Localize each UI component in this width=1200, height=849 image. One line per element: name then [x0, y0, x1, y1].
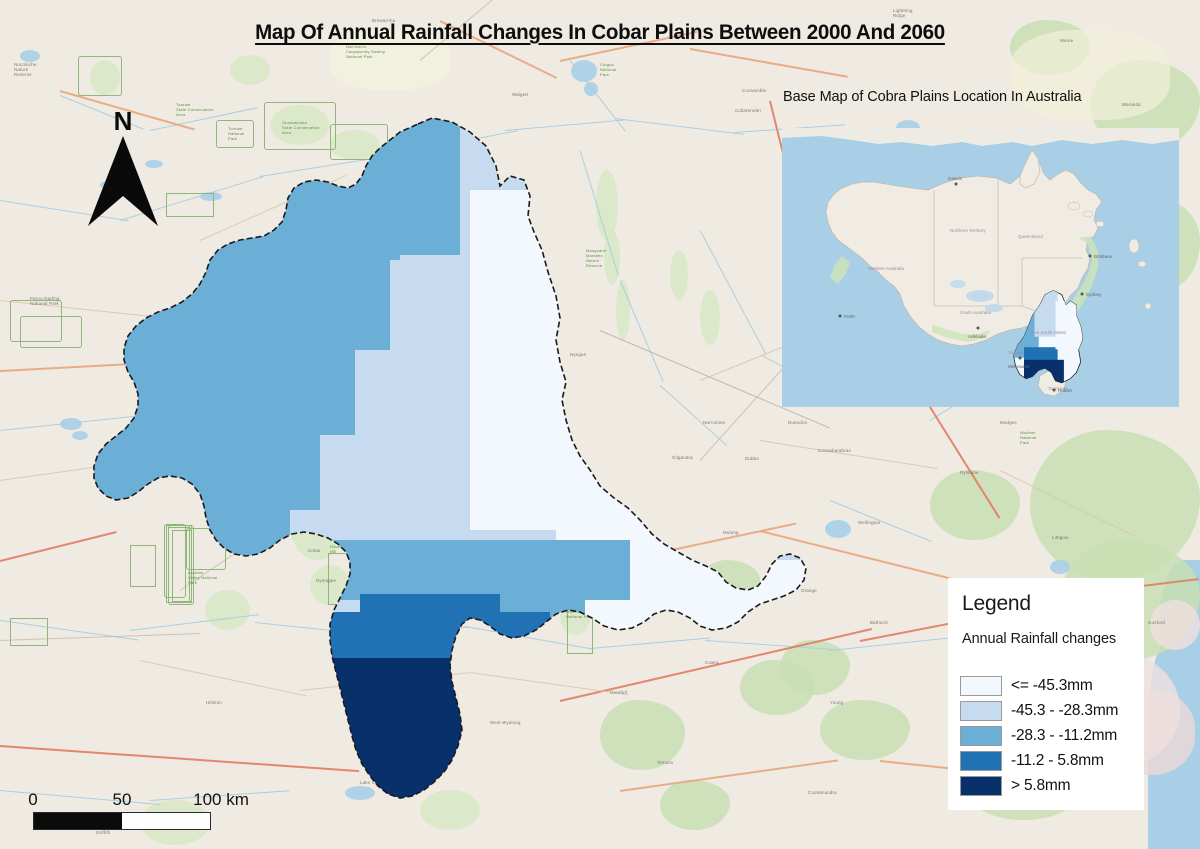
- map-figure: Brewarrina LightningRidge Walgett Collar…: [0, 0, 1200, 849]
- scale-tick-100: 100 km: [193, 790, 249, 810]
- legend-subtitle: Annual Rainfall changes: [962, 631, 1116, 647]
- class-0-fill: [684, 560, 814, 670]
- scale-bar-ticks: 0 50 100 km: [33, 790, 211, 812]
- north-arrow-label: N: [84, 108, 162, 134]
- inset-map[interactable]: Western Australia Northern Territory Que…: [782, 128, 1179, 407]
- north-arrow: N: [84, 108, 162, 228]
- svg-text:New South Wales: New South Wales: [1030, 330, 1067, 335]
- svg-text:Melbourne: Melbourne: [1008, 364, 1030, 369]
- svg-text:Northern Territory: Northern Territory: [950, 228, 986, 233]
- legend[interactable]: Legend Annual Rainfall changes <= -45.3m…: [948, 578, 1144, 810]
- legend-label: -45.3 - -28.3mm: [1011, 702, 1118, 720]
- legend-label: <= -45.3mm: [1011, 677, 1093, 695]
- svg-text:South Australia: South Australia: [960, 310, 991, 315]
- svg-text:Victoria: Victoria: [1008, 350, 1024, 355]
- australia-outline: Western Australia Northern Territory Que…: [782, 128, 1179, 407]
- legend-class-list: <= -45.3mm -45.3 - -28.3mm -28.3 - -11.2…: [960, 673, 1118, 798]
- legend-swatch: [960, 701, 1002, 721]
- scale-bar-half-filled: [34, 813, 122, 829]
- legend-swatch: [960, 751, 1002, 771]
- class-0-fill: [470, 190, 560, 530]
- svg-text:Adelaide: Adelaide: [968, 334, 986, 339]
- north-arrow-icon: [84, 136, 162, 228]
- class-4-fill: [330, 658, 548, 688]
- svg-text:Darwin: Darwin: [948, 176, 963, 181]
- class-4-fill: [355, 780, 555, 825]
- legend-label: > 5.8mm: [1011, 777, 1070, 795]
- svg-text:Hobart: Hobart: [1058, 388, 1073, 393]
- svg-text:Perth: Perth: [844, 314, 855, 319]
- svg-text:Western Australia: Western Australia: [868, 266, 904, 271]
- map-title: Map Of Annual Rainfall Changes In Cobar …: [27, 20, 1173, 45]
- legend-swatch: [960, 676, 1002, 696]
- legend-row[interactable]: -45.3 - -28.3mm: [960, 698, 1118, 723]
- legend-title: Legend: [962, 592, 1031, 616]
- legend-row[interactable]: -11.2 - 5.8mm: [960, 748, 1118, 773]
- scale-bar-half-empty: [122, 813, 210, 829]
- scale-bar-graphic: [33, 812, 211, 830]
- legend-row[interactable]: > 5.8mm: [960, 773, 1118, 798]
- class-3-fill: [460, 636, 540, 692]
- class-3-fill: [330, 636, 560, 660]
- inset-map-caption: Base Map of Cobra Plains Location In Aus…: [783, 89, 1183, 105]
- class-3-fill: [250, 570, 320, 592]
- scale-bar: 0 50 100 km: [33, 790, 211, 830]
- legend-row[interactable]: -28.3 - -11.2mm: [960, 723, 1118, 748]
- scale-tick-0: 0: [28, 790, 37, 810]
- legend-row[interactable]: <= -45.3mm: [960, 673, 1118, 698]
- scale-tick-50: 50: [113, 790, 132, 810]
- svg-text:Queensland: Queensland: [1018, 234, 1043, 239]
- legend-label: -28.3 - -11.2mm: [1011, 727, 1117, 745]
- legend-swatch: [960, 776, 1002, 796]
- svg-text:Sydney: Sydney: [1086, 292, 1102, 297]
- legend-swatch: [960, 726, 1002, 746]
- svg-text:Brisbane: Brisbane: [1094, 254, 1113, 259]
- class-2-fill: [90, 250, 390, 350]
- class-2-fill: [90, 345, 355, 435]
- legend-label: -11.2 - 5.8mm: [1011, 752, 1104, 770]
